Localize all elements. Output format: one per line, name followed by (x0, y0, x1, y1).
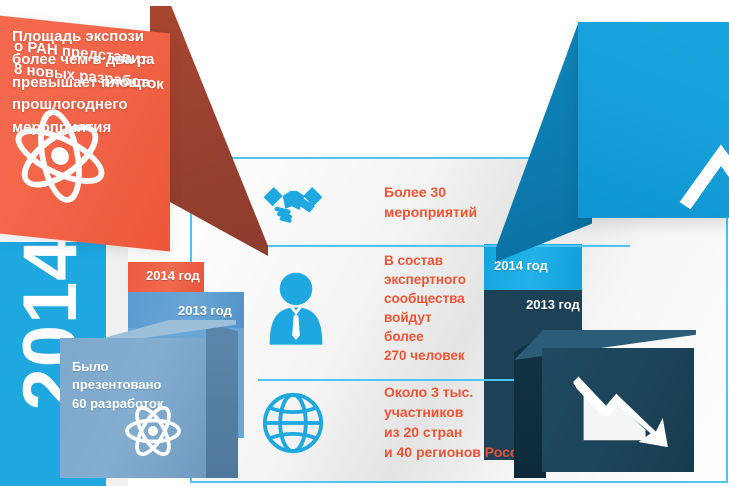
atom-icon (122, 400, 184, 462)
handshake-icon (260, 170, 326, 236)
up-arrow-chevron-icon (676, 138, 729, 212)
stat-text-experts: В состав экспертного сообщества войдут б… (384, 252, 466, 365)
down-trend-arrow-icon (566, 368, 670, 454)
left-block-side-face (206, 322, 238, 478)
stat-text-participants: Около 3 тыс. участников из 20 стран и 40… (384, 383, 535, 463)
globe-grid-icon (260, 390, 326, 456)
businessman-icon (260, 261, 332, 357)
infographic-canvas: 2014 2014 год 2013 год 2014 год 2013 год… (0, 0, 729, 486)
left-legend-label-2014: 2014 год (146, 268, 200, 283)
blue-banner-text: Площадь экспози более чем в два ра превы… (12, 26, 262, 140)
stat-text-events: Более 30 мероприятий (384, 183, 477, 223)
